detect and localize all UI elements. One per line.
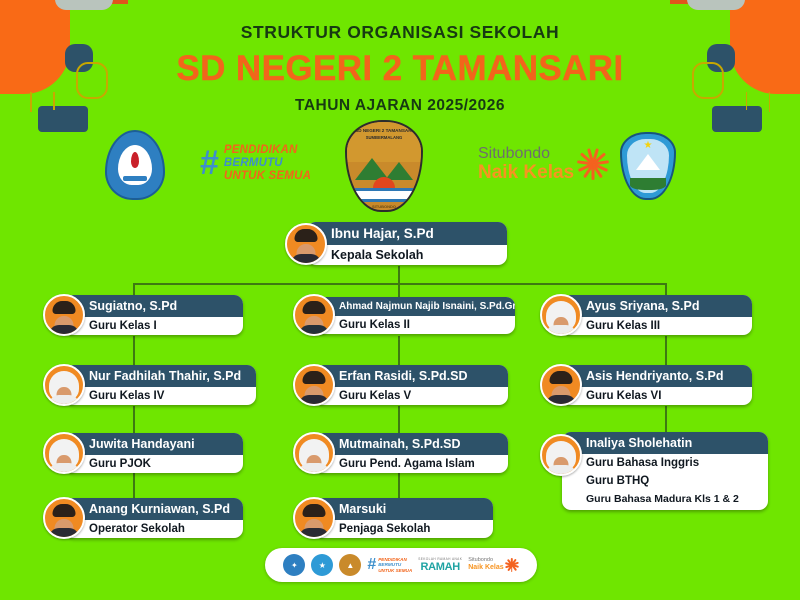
org-node-juwita[interactable]: Juwita Handayani Guru PJOK [43, 432, 243, 474]
org-node-name: Erfan Rasidi, S.Pd.SD [315, 365, 508, 387]
org-node-role: Guru BTHQ [562, 472, 768, 490]
org-node-role: Guru Pend. Agama Islam [315, 455, 508, 473]
ramah-logo: SEKOLAH RAMAH ANAK RAMAH [418, 557, 462, 573]
connector-root-down [398, 266, 400, 284]
org-node-role: Guru Kelas II [315, 316, 515, 334]
avatar [293, 364, 335, 406]
org-node-name: Juwita Handayani [65, 433, 243, 455]
org-node-role: Guru PJOK [65, 455, 243, 473]
footer-pb-line3: UNTUK SEMUA [378, 568, 412, 573]
sunburst-icon [505, 558, 519, 572]
org-node-role: Guru Kelas I [65, 317, 243, 335]
org-node-name: Ayus Sriyana, S.Pd [562, 295, 752, 317]
avatar [293, 432, 335, 474]
org-node-name: Inaliya Sholehatin [562, 432, 768, 454]
org-node-role: Guru Kelas III [562, 317, 752, 335]
org-node-mutmainah[interactable]: Mutmainah, S.Pd.SD Guru Pend. Agama Isla… [293, 432, 508, 474]
avatar [43, 294, 85, 336]
hash-icon: # [367, 557, 376, 573]
org-node-marsuki[interactable]: Marsuki Penjaga Sekolah [293, 497, 493, 539]
tut-wuri-handayani-logo: ✦ [283, 554, 305, 576]
avatar [540, 364, 582, 406]
org-node-name: Mutmainah, S.Pd.SD [315, 433, 508, 455]
situbondo-naik-kelas-logo: Situbondo Naik Kelas [468, 558, 518, 572]
avatar [540, 294, 582, 336]
org-node-root[interactable]: Ibnu Hajar, S.Pd Kepala Sekolah [285, 222, 507, 265]
kabupaten-situbondo-logo: ★ [311, 554, 333, 576]
footer-snk-line2: Naik Kelas [468, 564, 503, 571]
org-node-role: Guru Bahasa Inggris [562, 454, 768, 472]
avatar [43, 497, 85, 539]
org-node-role: Guru Kelas V [315, 387, 508, 405]
avatar [43, 364, 85, 406]
org-node-role: Guru Kelas IV [65, 387, 256, 405]
org-node-name: Anang Kurniawan, S.Pd [65, 498, 243, 520]
org-node-name: Sugiatno, S.Pd [65, 295, 243, 317]
org-node-role: Guru Kelas VI [562, 387, 752, 405]
org-node-name: Nur Fadhilah Thahir, S.Pd [65, 365, 256, 387]
avatar [540, 434, 582, 476]
org-chart: Ibnu Hajar, S.Pd Kepala Sekolah Sugiatno… [0, 0, 800, 600]
org-node-name: Ibnu Hajar, S.Pd [307, 222, 507, 245]
org-node-anang[interactable]: Anang Kurniawan, S.Pd Operator Sekolah [43, 497, 243, 539]
poster-canvas: STRUKTUR ORGANISASI SEKOLAH SD NEGERI 2 … [0, 0, 800, 600]
pendidikan-bermutu-logo: # PENDIDIKAN BERMUTU UNTUK SEMUA [367, 557, 412, 573]
org-node-role: Kepala Sekolah [307, 245, 507, 265]
avatar [293, 497, 335, 539]
org-node-ahmad-najmun[interactable]: Ahmad Najmun Najib Isnaini, S.Pd.Gr Guru… [293, 294, 515, 336]
org-node-sugiatno[interactable]: Sugiatno, S.Pd Guru Kelas I [43, 294, 243, 336]
org-node-nur-fadhilah[interactable]: Nur Fadhilah Thahir, S.Pd Guru Kelas IV [43, 364, 256, 406]
org-node-role: Penjaga Sekolah [315, 520, 493, 538]
org-node-ayus[interactable]: Ayus Sriyana, S.Pd Guru Kelas III [540, 294, 752, 336]
org-node-name: Marsuki [315, 498, 493, 520]
ramah-text: RAMAH [420, 561, 459, 573]
avatar [293, 294, 335, 336]
org-node-asis[interactable]: Asis Hendriyanto, S.Pd Guru Kelas VI [540, 364, 752, 406]
org-node-erfan[interactable]: Erfan Rasidi, S.Pd.SD Guru Kelas V [293, 364, 508, 406]
org-node-role: Operator Sekolah [65, 520, 243, 538]
org-node-name: Ahmad Najmun Najib Isnaini, S.Pd.Gr [315, 297, 515, 316]
org-node-name: Asis Hendriyanto, S.Pd [562, 365, 752, 387]
org-node-role: Guru Bahasa Madura Kls 1 & 2 [562, 490, 768, 510]
footer-logo-strip: ✦ ★ ▲ # PENDIDIKAN BERMUTU UNTUK SEMUA S… [265, 548, 537, 582]
org-node-inaliya[interactable]: Inaliya Sholehatin Guru Bahasa Inggris G… [540, 432, 768, 510]
school-crest-logo: ▲ [339, 554, 361, 576]
avatar [43, 432, 85, 474]
avatar [285, 223, 327, 265]
